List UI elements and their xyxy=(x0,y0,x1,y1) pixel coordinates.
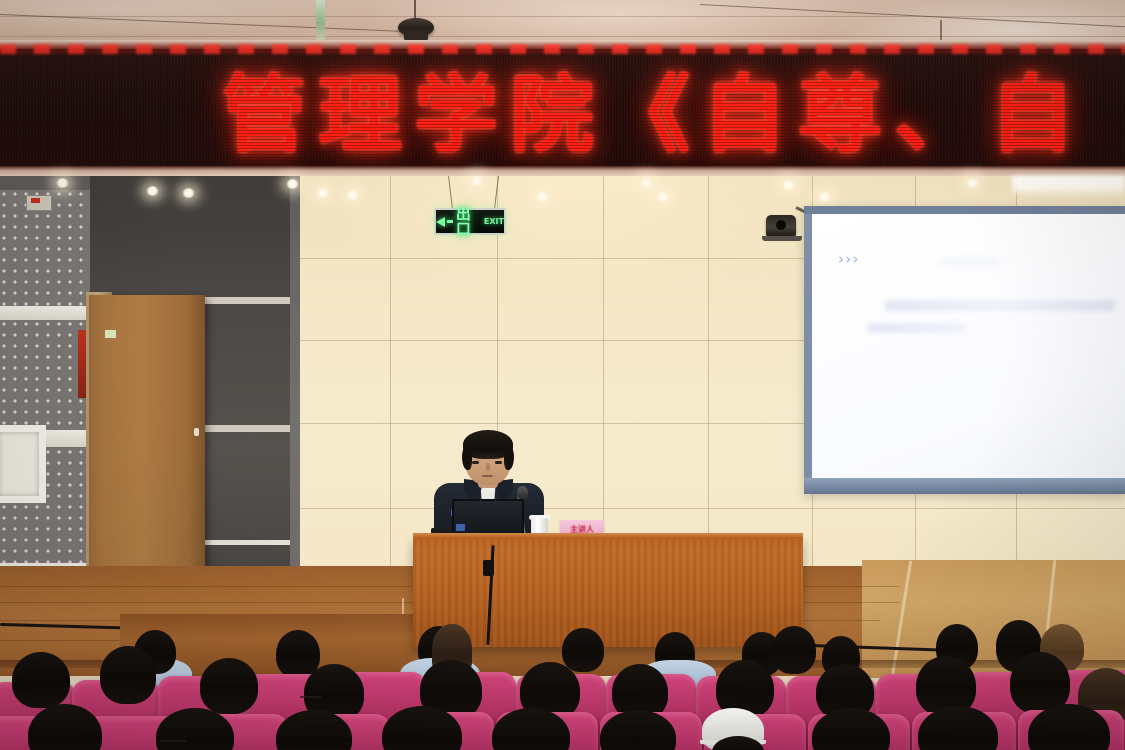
ceiling-downlight xyxy=(146,186,159,196)
alcove-band xyxy=(205,425,290,432)
led-banner-bottom-rail xyxy=(0,166,1125,176)
speaker-mouth xyxy=(482,475,493,477)
ceiling-downlight xyxy=(56,178,69,188)
speaker-eyebrow xyxy=(471,455,480,457)
speaker-hair-side xyxy=(462,446,472,470)
ceiling-strip-light xyxy=(1012,176,1125,196)
projection-screen-top-frame xyxy=(804,206,1125,214)
speaker-nose xyxy=(486,463,490,471)
ceiling-hanging-object xyxy=(316,0,325,42)
exit-arrow-tail-icon xyxy=(447,220,453,223)
wall-white-band xyxy=(0,306,94,320)
ceiling-downlight xyxy=(640,178,653,188)
audience-head xyxy=(562,628,604,672)
ceiling-downlight xyxy=(316,188,329,198)
podium-cable-connector xyxy=(483,560,494,576)
audience-head xyxy=(200,658,258,714)
ceiling-speaker-stem xyxy=(414,0,416,20)
microphone-icon xyxy=(517,486,528,499)
audience-glasses xyxy=(160,740,186,742)
wall-panel-seam xyxy=(390,176,391,616)
ceiling-downlight xyxy=(656,192,669,202)
audience-area xyxy=(0,612,1125,750)
alcove-baseboard xyxy=(205,540,290,545)
ceiling-downlight xyxy=(182,188,195,198)
audience-head xyxy=(100,646,156,704)
projection-screen-bottom-frame xyxy=(804,478,1125,494)
slide-faint-text xyxy=(885,300,1115,311)
chevron-right-triple-icon: ››› xyxy=(838,250,860,268)
exit-sign-label: EXIT xyxy=(484,218,504,226)
emergency-exit-sign: 出口 EXIT xyxy=(434,208,506,235)
wall-camera-base xyxy=(762,236,802,241)
ceiling-downlight xyxy=(346,190,359,200)
slide-faint-text xyxy=(940,258,1000,266)
audience-glasses xyxy=(300,696,322,698)
ceiling-downlight xyxy=(536,192,549,202)
ceiling-downlight xyxy=(286,179,299,189)
wall-panel-seam xyxy=(280,508,1125,509)
ceiling-downlight xyxy=(782,180,795,190)
ceiling-downlight xyxy=(966,178,979,188)
door-label-tag xyxy=(105,330,116,338)
lecture-hall-photo: 管理学院《自尊、自 xyxy=(0,0,1125,750)
laptop-sticker xyxy=(456,524,465,531)
speaker-eyebrow xyxy=(494,455,503,457)
audience-head xyxy=(12,652,70,708)
fire-alarm-indicator xyxy=(31,198,40,203)
speaker-eye xyxy=(472,461,479,464)
wall-camera-lens xyxy=(776,220,786,230)
speaker-eye xyxy=(495,461,502,464)
led-banner-text: 管理学院《自尊、自 xyxy=(0,49,1125,167)
ceiling-downlight xyxy=(818,192,831,202)
slide-faint-text xyxy=(868,323,966,333)
exit-arrow-icon xyxy=(436,217,445,227)
ceiling-downlight xyxy=(470,176,483,186)
led-banner-glow-strip xyxy=(0,44,1125,54)
door-handle[interactable] xyxy=(194,428,199,436)
wall-niche xyxy=(0,425,46,503)
audience-head xyxy=(772,626,816,674)
ceiling-seam xyxy=(0,36,1125,37)
exit-sign-glyph: 出口 xyxy=(456,207,481,237)
